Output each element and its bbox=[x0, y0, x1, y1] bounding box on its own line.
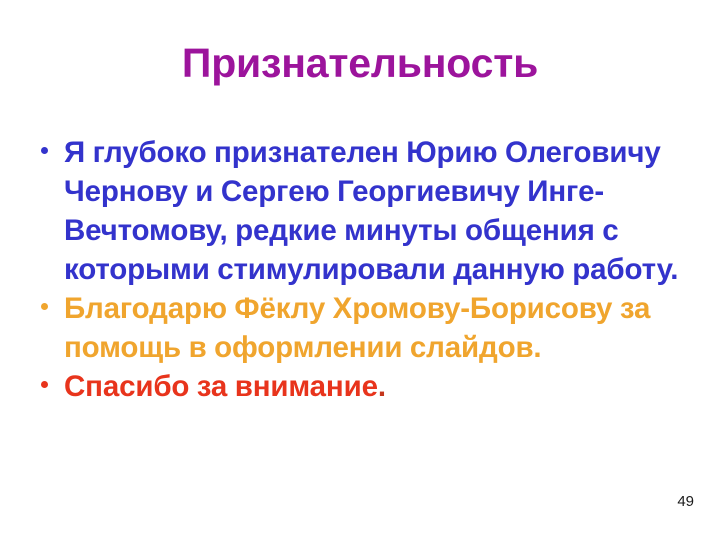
page-number: 49 bbox=[677, 493, 694, 510]
bullet-dot-icon bbox=[38, 367, 64, 406]
list-item: Спасибо за внимание. bbox=[38, 367, 710, 406]
list-item-label: Благодарю Фёклу Хромову-Борисову за помо… bbox=[64, 289, 710, 367]
slide-canvas: Признательность Я глубоко признателен Юр… bbox=[0, 0, 720, 540]
list-item-label: Спасибо за внимание. bbox=[64, 367, 710, 406]
list-item-label: Я глубоко признателен Юрию Олеговичу Чер… bbox=[64, 133, 710, 289]
list-item: Я глубоко признателен Юрию Олеговичу Чер… bbox=[38, 133, 710, 289]
bullet-dot-icon bbox=[38, 133, 64, 172]
list-item-text: Спасибо за внимание bbox=[64, 370, 378, 403]
list-item-trailing-period: . bbox=[378, 370, 386, 403]
bullet-list: Я глубоко признателен Юрию Олеговичу Чер… bbox=[38, 133, 710, 406]
bullet-dot-icon bbox=[38, 289, 64, 328]
page-title: Признательность bbox=[0, 42, 720, 85]
list-item: Благодарю Фёклу Хромову-Борисову за помо… bbox=[38, 289, 710, 367]
